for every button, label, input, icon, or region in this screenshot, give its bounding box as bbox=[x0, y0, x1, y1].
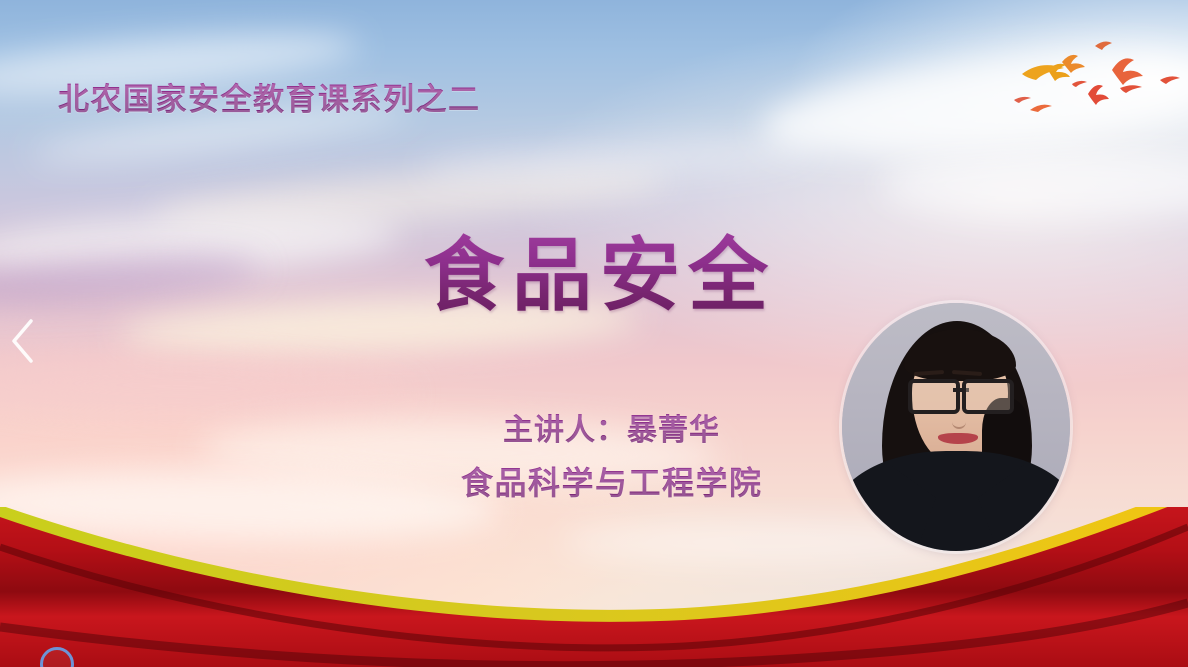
series-heading: 北农国家安全教育课系列之二 bbox=[58, 74, 481, 119]
avatar bbox=[842, 303, 1070, 551]
video-slide-frame: 北农国家安全教育课系列之二 食品安全 主讲人：暴菁华 食品科学与工程学院 bbox=[0, 0, 1188, 667]
department-name: 食品科学与工程学院 bbox=[461, 458, 763, 504]
chevron-left-icon[interactable] bbox=[6, 316, 40, 366]
glasses-lens bbox=[962, 379, 1014, 414]
glasses-lens bbox=[908, 379, 960, 414]
portrait-jacket bbox=[842, 451, 1070, 551]
portrait-glasses bbox=[908, 379, 1014, 409]
portrait-nose bbox=[952, 411, 966, 429]
flying-birds-icon bbox=[1000, 18, 1188, 133]
page-title: 食品安全 bbox=[424, 232, 776, 320]
presenter-name: 主讲人：暴菁华 bbox=[503, 405, 720, 449]
